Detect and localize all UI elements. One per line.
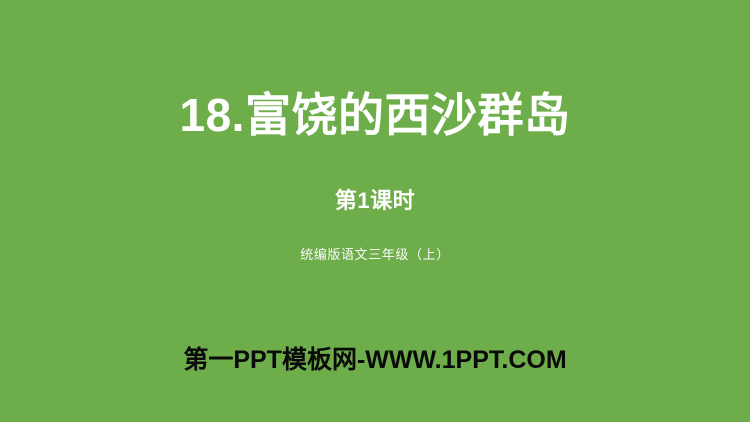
course-info-label: 统编版语文三年级（上） bbox=[0, 248, 750, 261]
slide-subtitle: 第1课时 bbox=[0, 190, 750, 212]
presentation-slide: 18.富饶的西沙群岛 第1课时 统编版语文三年级（上） 第一PPT模板网-WWW… bbox=[0, 0, 750, 422]
watermark-text: 第一PPT模板网-WWW.1PPT.COM bbox=[0, 348, 750, 373]
page-title: 18.富饶的西沙群岛 bbox=[0, 92, 750, 138]
